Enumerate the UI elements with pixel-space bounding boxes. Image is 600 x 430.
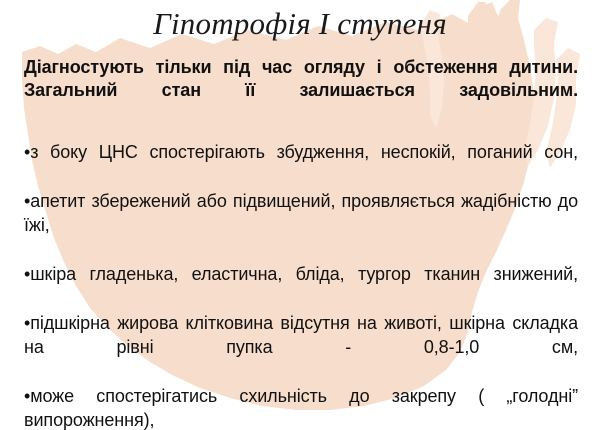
list-item: •підшкірна жирова клітковина відсутня на… — [24, 311, 578, 384]
list-item-text: підшкірна жирова клітковина відсутня на … — [24, 313, 578, 357]
slide-canvas: Гіпотрофія І ступеня Діагностують тільки… — [0, 0, 600, 430]
list-item: •може спостерігатись схильність до закре… — [24, 384, 578, 430]
list-item-text: шкіра гладенька, еластична, бліда, турго… — [30, 264, 578, 284]
slide-title: Гіпотрофія І ступеня — [0, 4, 600, 44]
list-item-text: може спостерігатись схильність до закреп… — [24, 386, 578, 430]
list-item: •шкіра гладенька, еластична, бліда, тург… — [24, 262, 578, 311]
slide-body: Діагностують тільки під час огляду і обс… — [24, 56, 578, 430]
list-item: •з боку ЦНС спостерігають збудження, нес… — [24, 140, 578, 189]
list-item-text: апетит збережений або підвищений, проявл… — [24, 191, 578, 235]
lead-paragraph: Діагностують тільки під час огляду і обс… — [24, 56, 578, 125]
list-item: •апетит збережений або підвищений, прояв… — [24, 189, 578, 262]
symptom-list: •з боку ЦНС спостерігають збудження, нес… — [24, 140, 578, 430]
lead-spacer — [24, 125, 578, 140]
list-item-text: з боку ЦНС спостерігають збудження, несп… — [30, 142, 578, 162]
brush-left-edge-texture — [0, 0, 24, 430]
